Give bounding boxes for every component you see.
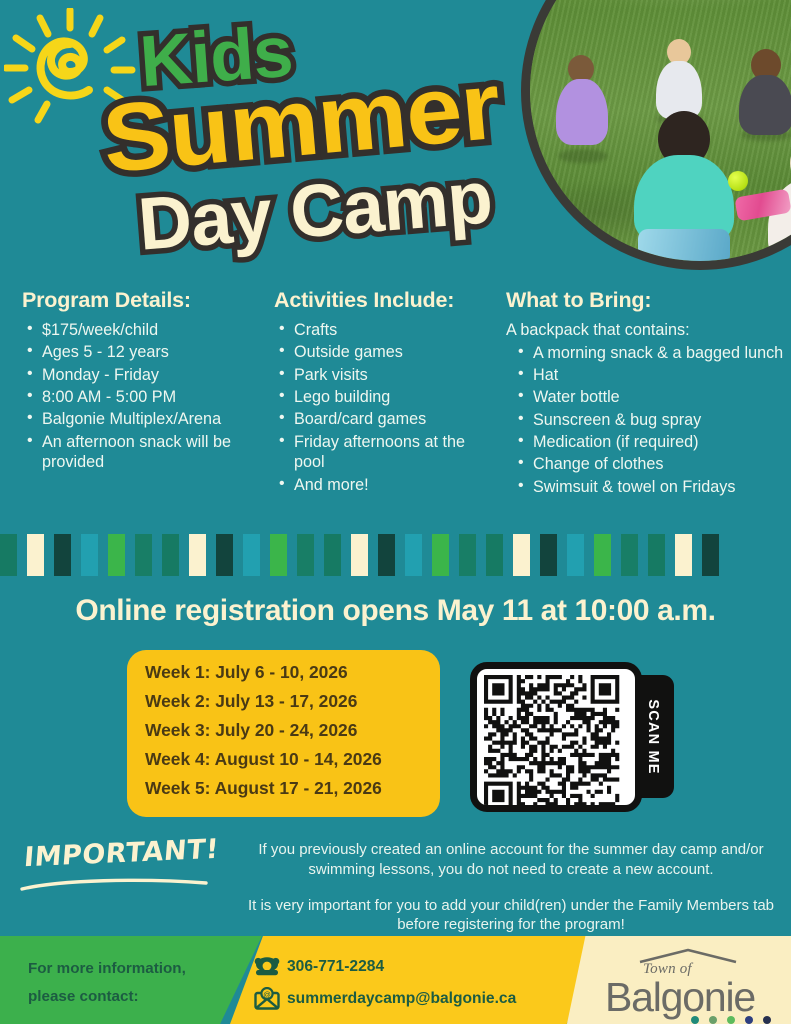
telephone-icon [252,955,282,979]
column-what-to-bring: What to Bring: A backpack that contains:… [498,288,789,499]
list-item: Board/card games [274,409,494,430]
logo-dot [709,1016,717,1024]
stripe-segment [108,534,125,576]
town-logo: Town of Balgonie [603,948,778,1018]
phone-number: 306-771-2284 [287,958,384,976]
tennis-ball [728,171,748,191]
list-item: Park visits [274,365,494,386]
email-row[interactable]: @ summerdaycamp@balgonie.ca [252,986,516,1012]
list-item: An afternoon snack will be provided [22,432,258,474]
email-address: summerdaycamp@balgonie.ca [287,990,516,1008]
footer-band: For more information, please contact: 30… [0,936,791,1024]
column-heading: Activities Include: [274,288,494,313]
important-callout: IMPORTANT! [24,838,224,902]
stripe-segment [540,534,557,576]
note-paragraph: If you previously created an online acco… [238,840,784,880]
stripe-segment [162,534,179,576]
list-item: Change of clothes [513,454,785,475]
child-figure [735,49,791,141]
list-item: Ages 5 - 12 years [22,342,258,363]
column-activities: Activities Include: Crafts Outside games… [262,288,498,497]
list-item: Lego building [274,387,494,408]
logo-dot-row [691,1016,781,1024]
child-figure [628,111,740,270]
logo-dot [727,1016,735,1024]
qr-code-icon[interactable] [483,674,641,810]
stripe-segment [594,534,611,576]
program-details-list: $175/week/child Ages 5 - 12 years Monday… [22,320,258,473]
stripe-segment [0,534,17,576]
week-row: Week 4: August 10 - 14, 2026 [145,751,440,768]
stripe-segment [648,534,665,576]
stripe-segment [135,534,152,576]
list-item: Crafts [274,320,494,341]
list-item: Balgonie Multiplex/Arena [22,409,258,430]
footer-contact-prompt: For more information, please contact: [28,955,228,1011]
column-program-details: Program Details: $175/week/child Ages 5 … [0,288,262,475]
week-row: Week 1: July 6 - 10, 2026 [145,664,440,681]
stripe-segment [378,534,395,576]
column-heading: What to Bring: [506,288,785,313]
stripe-segment [297,534,314,576]
stripe-segment [351,534,368,576]
list-item: Water bottle [513,387,785,408]
list-item: Medication (if required) [513,432,785,453]
qr-code-block[interactable]: SCAN ME [470,662,675,812]
stripe-segment [243,534,260,576]
list-item: $175/week/child [22,320,258,341]
child-figure [554,55,614,163]
list-item: Swimsuit & towel on Fridays [513,477,785,498]
week-row: Week 3: July 20 - 24, 2026 [145,722,440,739]
qr-code-card[interactable] [470,662,642,812]
what-to-bring-list: A morning snack & a bagged lunch Hat Wat… [513,343,785,498]
poster-canvas: Kids Summer Day Camp Program Details: $1… [0,0,791,1024]
important-label: IMPORTANT! [23,834,220,874]
decorative-stripe-band [0,534,791,576]
stripe-segment [675,534,692,576]
important-underline [20,876,216,894]
contact-prompt-line-2: please contact: [28,983,228,1011]
contact-prompt-line-1: For more information, [28,955,228,983]
logo-dot [691,1016,699,1024]
registration-headline: Online registration opens May 11 at 10:0… [0,594,791,628]
stripe-segment [702,534,719,576]
phone-row[interactable]: 306-771-2284 [252,954,516,980]
poster-title: Kids Summer Day Camp [120,8,550,276]
list-item: A morning snack & a bagged lunch [513,343,785,364]
stripe-segment [513,534,530,576]
stripe-segment [459,534,476,576]
logo-dot [745,1016,753,1024]
stripe-segment [621,534,638,576]
column-heading: Program Details: [22,288,258,313]
camp-photo [521,0,791,270]
logo-dot [763,1016,771,1024]
list-item: Sunscreen & bug spray [513,410,785,431]
list-item: Hat [513,365,785,386]
list-item: Monday - Friday [22,365,258,386]
activities-list: Crafts Outside games Park visits Lego bu… [274,320,494,496]
list-item: And more! [274,475,494,496]
svg-text:@: @ [263,990,271,999]
logo-name: Balgonie [605,974,755,1021]
list-item: Friday afternoons at the pool [274,432,494,474]
stripe-segment [54,534,71,576]
note-paragraph: It is very important for you to add your… [238,896,784,936]
list-item: 8:00 AM - 5:00 PM [22,387,258,408]
details-columns: Program Details: $175/week/child Ages 5 … [0,288,791,499]
week-row: Week 5: August 17 - 21, 2026 [145,780,440,797]
stripe-segment [189,534,206,576]
stripe-segment [27,534,44,576]
week-row: Week 2: July 13 - 17, 2026 [145,693,440,710]
stripe-segment [216,534,233,576]
stripe-segment [405,534,422,576]
stripe-segment [270,534,287,576]
email-icon: @ [252,987,282,1011]
session-weeks-box: Week 1: July 6 - 10, 2026 Week 2: July 1… [127,650,440,817]
stripe-segment [567,534,584,576]
stripe-segment [324,534,341,576]
list-item: Outside games [274,342,494,363]
stripe-segment [81,534,98,576]
footer-contact-details: 306-771-2284 @ summerdaycamp@balgonie.ca [252,954,516,1018]
stripe-segment [486,534,503,576]
stripe-segment [432,534,449,576]
what-to-bring-intro: A backpack that contains: [506,320,785,341]
registration-notes: If you previously created an online acco… [238,840,784,935]
scan-me-label: SCAN ME [645,699,661,774]
